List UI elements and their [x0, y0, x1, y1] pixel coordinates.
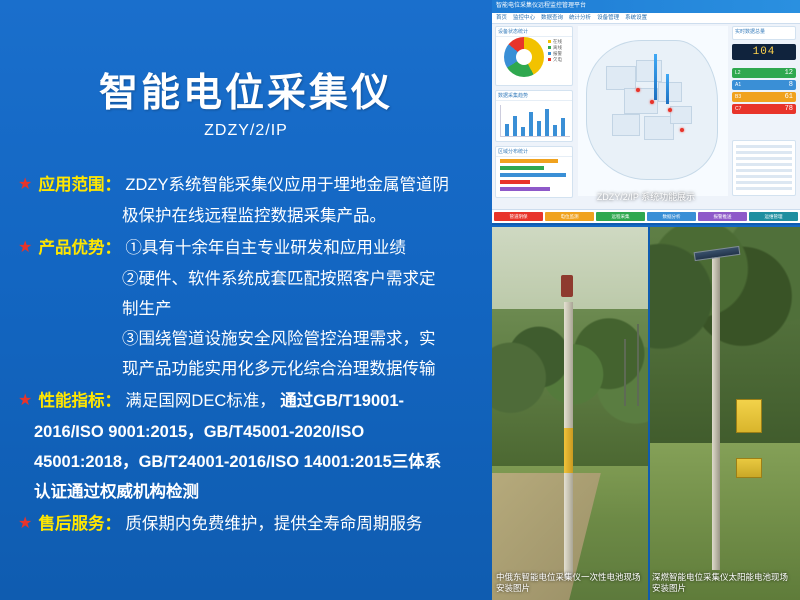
- region-bars: [500, 159, 570, 194]
- bullet-application-scope: ★ 应用范围： ZDZY系统智能采集仪应用于埋地金属管道阴 极保护在线远程监控数…: [18, 170, 488, 231]
- dashboard-nav-item[interactable]: 监控中心: [513, 13, 535, 23]
- page-title: 智能电位采集仪: [0, 62, 492, 118]
- bullet-text-line: ①具有十余年自主专业研发和应用业绩: [125, 239, 406, 257]
- star-icon: ★: [18, 386, 34, 416]
- stat-value: 12: [785, 69, 793, 77]
- pie-chart: [504, 37, 544, 77]
- footer-chip[interactable]: 运维管理: [749, 212, 798, 221]
- dashboard-nav-item[interactable]: 首页: [496, 13, 507, 23]
- stat-value: 61: [785, 93, 793, 101]
- dashboard-window-title: 智能电位采集仪远程监控管理平台: [492, 0, 800, 13]
- pole-antenna-box: [561, 275, 573, 297]
- footer-chip[interactable]: 远程采集: [596, 212, 645, 221]
- bullet-label: 应用范围：: [38, 176, 121, 194]
- bullet-after-sales-service: ★ 售后服务： 质保期内免费维护，提供全寿命周期服务: [18, 509, 488, 540]
- bullet-label: 性能指标：: [38, 392, 121, 410]
- bullet-text-line-bold: 认证通过权威机构检测: [18, 477, 488, 507]
- warning-sign-lower: [736, 458, 762, 478]
- bullet-text-line: ZDZY系统智能采集仪应用于埋地金属管道阴: [125, 176, 449, 194]
- legend-label: 在线: [553, 39, 562, 44]
- dashboard-nav-item[interactable]: 系统设置: [625, 13, 647, 23]
- stat-value: 78: [785, 105, 793, 113]
- footer-chip[interactable]: 电位监测: [545, 212, 594, 221]
- dashboard-nav-item[interactable]: 设备管理: [597, 13, 619, 23]
- legend-label: 欠电: [553, 57, 562, 62]
- bullet-label: 售后服务：: [38, 515, 121, 533]
- bullet-text-line-bold: 通过GB/T19001-: [280, 392, 404, 410]
- photo-caption: 中俄东智能电位采集仪一次性电池现场安装图片: [496, 572, 644, 594]
- stat-label: L2: [735, 70, 741, 76]
- bullet-text-line: 满足国网DEC标准，: [125, 392, 275, 410]
- bullet-list: ★ 应用范围： ZDZY系统智能采集仪应用于埋地金属管道阴 极保护在线远程监控数…: [18, 170, 488, 542]
- map-data-bar: [654, 54, 657, 100]
- panel-title: 区域分布统计: [496, 147, 572, 157]
- pole-yellow-band: [564, 428, 573, 473]
- bullet-text-line: ③围绕管道设施安全风险管控治理需求，实: [18, 324, 488, 354]
- legend-swatch: [548, 52, 551, 55]
- star-icon: ★: [18, 509, 34, 539]
- bullet-text-line: 制生产: [18, 294, 488, 324]
- footer-chip[interactable]: 数据分析: [647, 212, 696, 221]
- legend-swatch: [548, 40, 551, 43]
- legend-label: 报警: [553, 51, 562, 56]
- legend-swatch: [548, 58, 551, 61]
- bullet-text-line: 极保护在线远程监控数据采集产品。: [18, 201, 488, 231]
- legend-swatch: [548, 46, 551, 49]
- photo-right: 深燃智能电位采集仪太阳能电池现场安装图片: [648, 227, 800, 600]
- dashboard-caption: ZDZY/2/IP 系统功能展示: [492, 190, 800, 203]
- status-stat-list: L2 12 A1 8 B3 61 C7 78: [732, 68, 796, 116]
- dashboard-nav-item[interactable]: 统计分析: [569, 13, 591, 23]
- slide-text-column: 智能电位采集仪 ZDZY/2/IP ★ 应用范围： ZDZY系统智能采集仪应用于…: [0, 0, 492, 600]
- dashboard-navbar: 首页 监控中心 数据查询 统计分析 设备管理 系统设置: [492, 13, 800, 24]
- status-stat-row: B3 61: [732, 92, 796, 102]
- bullet-text-line: 现产品功能实用化多元化综合治理数据传输: [18, 354, 488, 384]
- bullet-text-line-bold: 45001:2018，GB/T24001-2016/ISO 14001:2015…: [18, 447, 488, 477]
- status-stat-row: A1 8: [732, 80, 796, 90]
- stat-label: A1: [735, 82, 741, 88]
- bullet-text-line-bold: 2016/ISO 9001:2015，GB/T45001-2020/ISO: [18, 417, 488, 447]
- kpi-total-count: 104: [732, 44, 796, 60]
- bullet-text-line: ②硬件、软件系统成套匹配按照客户需求定: [18, 264, 488, 294]
- panel-title: 实时数据总量: [733, 27, 795, 36]
- photo-left: 中俄东智能电位采集仪一次性电池现场安装图片: [492, 227, 648, 600]
- stat-label: C7: [735, 106, 741, 112]
- panel-total-data: 实时数据总量: [732, 26, 796, 40]
- trend-plot-area: [500, 105, 570, 137]
- bullet-text-line: 质保期内免费维护，提供全寿命周期服务: [125, 515, 422, 533]
- kpi-value: 104: [732, 44, 796, 60]
- field-photos: 中俄东智能电位采集仪一次性电池现场安装图片 深燃智能电位采集仪太阳能电池现场安装…: [492, 227, 800, 600]
- footer-chip[interactable]: 管道阴保: [494, 212, 543, 221]
- model-subtitle: ZDZY/2/IP: [0, 122, 492, 140]
- photo-caption: 深燃智能电位采集仪太阳能电池现场安装图片: [652, 572, 796, 594]
- panel-device-status: 设备状态统计 在线 离线 报警 欠电: [495, 26, 573, 86]
- dashboard-nav-item[interactable]: 数据查询: [541, 13, 563, 23]
- dashboard-screenshot: 智能电位采集仪远程监控管理平台 首页 监控中心 数据查询 统计分析 设备管理 系…: [492, 0, 800, 225]
- star-icon: ★: [18, 170, 34, 200]
- status-stat-row: C7 78: [732, 104, 796, 114]
- panel-collection-trend: 数据采集趋势: [495, 90, 573, 142]
- panel-device-list: [732, 140, 796, 196]
- pie-hole: [516, 49, 532, 65]
- star-icon: ★: [18, 233, 34, 263]
- pie-legend: 在线 离线 报警 欠电: [548, 39, 562, 63]
- stat-label: B3: [735, 94, 741, 100]
- map-data-bar: [666, 74, 669, 104]
- bullet-label: 产品优势：: [38, 239, 121, 257]
- status-stat-row: L2 12: [732, 68, 796, 78]
- photo-divider: [648, 227, 650, 600]
- monitoring-pole: [712, 257, 720, 570]
- media-column: 智能电位采集仪远程监控管理平台 首页 监控中心 数据查询 统计分析 设备管理 系…: [492, 0, 800, 600]
- china-map[interactable]: [578, 26, 728, 196]
- warning-sign-upper: [736, 399, 762, 433]
- footer-chip[interactable]: 报警推送: [698, 212, 747, 221]
- panel-title: 设备状态统计: [496, 27, 572, 37]
- bullet-product-advantages: ★ 产品优势： ①具有十余年自主专业研发和应用业绩 ②硬件、软件系统成套匹配按照…: [18, 233, 488, 384]
- bullet-performance-specs: ★ 性能指标： 满足国网DEC标准， 通过GB/T19001- 2016/ISO…: [18, 386, 488, 507]
- dashboard-body: 设备状态统计 在线 离线 报警 欠电 数据采集趋势: [492, 24, 800, 202]
- stat-value: 8: [789, 81, 793, 89]
- legend-label: 离线: [553, 45, 562, 50]
- panel-title: 数据采集趋势: [496, 91, 572, 101]
- dashboard-footer-chips: 管道阴保 电位监测 远程采集 数据分析 报警推送 运维管理: [492, 209, 800, 223]
